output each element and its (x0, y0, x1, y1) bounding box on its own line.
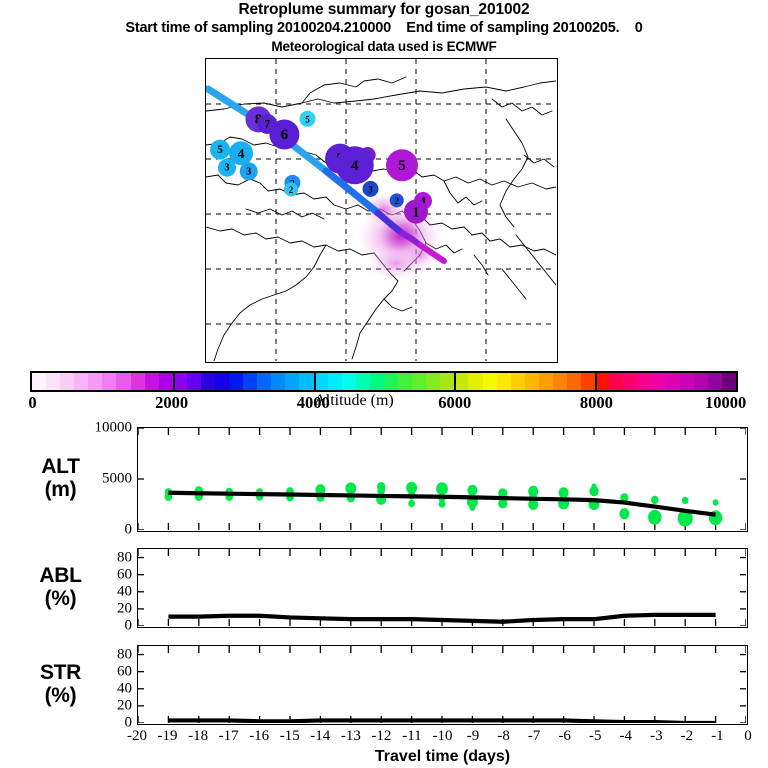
colorbar-swatch (553, 373, 567, 390)
y-tick-label: 5000 (60, 471, 132, 488)
scatter-point (591, 483, 596, 489)
colorbar-swatch (567, 373, 581, 390)
colorbar-tick-label: 10000 (705, 393, 746, 413)
colorbar-swatch (680, 373, 694, 390)
colorbar-swatch (412, 373, 426, 390)
colorbar-swatch (285, 373, 299, 390)
x-tick-label: -12 (371, 728, 391, 745)
y-tick-label: 60 (60, 664, 132, 681)
colorbar-swatch (384, 373, 398, 390)
y-tick-label: 0 (60, 715, 132, 732)
colorbar-swatch (440, 373, 454, 390)
scatter-point (436, 482, 448, 495)
x-tick-label: -2 (681, 728, 694, 745)
x-axis-title: Travel time (days) (137, 748, 748, 766)
colorbar-swatch (609, 373, 623, 390)
colorbar-swatch (468, 373, 482, 390)
colorbar-swatch (497, 373, 511, 390)
colorbar-swatch (88, 373, 102, 390)
scatter-point (408, 500, 415, 507)
colorbar-swatch (271, 373, 285, 390)
colorbar-swatch (116, 373, 130, 390)
scatter-point (439, 500, 446, 507)
y-tick-label: 20 (60, 601, 132, 618)
x-tick-label: -19 (158, 728, 178, 745)
y-tick-label: 20 (60, 698, 132, 715)
sampling-time-line: Start time of sampling 20100204.210000 E… (0, 19, 768, 38)
scatter-point (377, 487, 385, 495)
map-marker-label: 5 (305, 114, 310, 124)
abl-plot-canvas (138, 549, 746, 626)
colorbar-swatch (483, 373, 497, 390)
colorbar-swatch (159, 373, 173, 390)
x-tick-label: -13 (341, 728, 361, 745)
y-tick-label: 80 (60, 549, 132, 566)
colorbar-gradient (30, 371, 738, 392)
colorbar-swatch (426, 373, 440, 390)
x-tick-label: -1 (711, 728, 724, 745)
colorbar-swatch (328, 373, 342, 390)
colorbar-swatch (46, 373, 60, 390)
alt-plot-panel (137, 427, 748, 532)
map-marker-label: 3 (368, 184, 373, 194)
x-tick-label: -4 (620, 728, 633, 745)
colorbar-swatch (102, 373, 116, 390)
scatter-point (345, 482, 356, 494)
y-tick-label: 60 (60, 567, 132, 584)
met-data-line: Meteorological data used is ECMWF (0, 38, 768, 55)
colorbar-swatch (145, 373, 159, 390)
scatter-point (559, 487, 569, 498)
y-tick-label: 10000 (60, 420, 132, 437)
colorbar-swatch (229, 373, 243, 390)
str-plot-canvas (138, 646, 746, 723)
colorbar-swatch (651, 373, 665, 390)
abl-series-line (168, 615, 715, 622)
x-tick-label: -14 (310, 728, 330, 745)
colorbar-swatch (666, 373, 680, 390)
colorbar-swatch (356, 373, 370, 390)
colorbar-swatch (257, 373, 271, 390)
colorbar-swatch (32, 373, 46, 390)
colorbar-swatch (581, 373, 595, 390)
colorbar-swatch (637, 373, 651, 390)
colorbar-swatch (694, 373, 708, 390)
x-tick-label: -20 (127, 728, 147, 745)
colorbar-title: Altitude (m) (0, 392, 708, 410)
x-tick-label: -10 (433, 728, 453, 745)
x-tick-label: -15 (280, 728, 300, 745)
x-tick-label: -16 (249, 728, 269, 745)
colorbar-swatch (314, 373, 328, 390)
colorbar-swatch (708, 373, 722, 390)
alt-plot-canvas (138, 428, 746, 530)
scatter-point (682, 497, 689, 504)
map-marker-label: 1 (413, 205, 420, 220)
y-tick-label: 0 (60, 522, 132, 539)
map-marker-label: 4 (351, 158, 359, 174)
x-tick-label: -18 (188, 728, 208, 745)
y-tick-label: 0 (60, 618, 132, 635)
x-tick-label: -8 (497, 728, 510, 745)
x-tick-label: -7 (528, 728, 541, 745)
x-tick-label: -3 (650, 728, 663, 745)
map-canvas: 543332565487654321 (206, 59, 556, 361)
scatter-point (469, 504, 475, 510)
colorbar-swatch (539, 373, 553, 390)
map-marker-label: 3 (246, 166, 251, 177)
colorbar-swatch (131, 373, 145, 390)
retroplume-map: 543332565487654321 (205, 58, 558, 363)
map-marker-label: 4 (238, 146, 245, 161)
figure-title-block: Retroplume summary for gosan_201002 Star… (0, 0, 768, 55)
abl-plot-panel (137, 548, 748, 628)
colorbar-swatch (60, 373, 74, 390)
map-marker-label: 5 (398, 158, 406, 174)
colorbar-swatch (398, 373, 412, 390)
colorbar-swatch (74, 373, 88, 390)
y-tick-label: 80 (60, 646, 132, 663)
x-axis-tick-labels: -20-19-18-17-16-15-14-13-12-11-10-9-8-7-… (137, 728, 748, 748)
colorbar-swatch (215, 373, 229, 390)
colorbar-divider (314, 371, 316, 392)
page-title: Retroplume summary for gosan_201002 (0, 0, 768, 19)
colorbar-swatch (370, 373, 384, 390)
colorbar-swatch (511, 373, 525, 390)
colorbar-swatch (173, 373, 187, 390)
colorbar-swatch (299, 373, 313, 390)
map-marker-label: 2 (289, 185, 294, 195)
colorbar-swatch (595, 373, 609, 390)
colorbar-swatch (623, 373, 637, 390)
colorbar-swatch (722, 373, 736, 390)
x-tick-label: -17 (219, 728, 239, 745)
x-tick-label: 0 (744, 728, 752, 745)
colorbar-divider (173, 371, 175, 392)
scatter-point (651, 496, 659, 504)
x-tick-label: -11 (402, 728, 421, 745)
scatter-point (467, 485, 477, 496)
colorbar-swatch (454, 373, 468, 390)
scatter-point (619, 508, 629, 519)
colorbar-swatch (342, 373, 356, 390)
x-tick-label: -9 (467, 728, 480, 745)
str-plot-panel (137, 645, 748, 725)
scatter-point (713, 499, 719, 505)
colorbar-swatch (187, 373, 201, 390)
map-marker-label: 2 (395, 196, 400, 206)
y-tick-label: 40 (60, 681, 132, 698)
colorbar-swatch (243, 373, 257, 390)
map-marker-label: 3 (224, 163, 229, 174)
x-tick-label: -5 (589, 728, 602, 745)
map-marker-label: 5 (217, 144, 223, 156)
scatter-point (648, 510, 661, 525)
str-axis-ticks (138, 646, 746, 723)
colorbar-divider (454, 371, 456, 392)
map-marker-label: 7 (264, 118, 270, 130)
colorbar-divider (595, 371, 597, 392)
colorbar-swatch (201, 373, 215, 390)
colorbar-swatch (525, 373, 539, 390)
y-tick-label: 40 (60, 584, 132, 601)
map-marker-label: 6 (281, 127, 289, 143)
x-tick-label: -6 (558, 728, 571, 745)
